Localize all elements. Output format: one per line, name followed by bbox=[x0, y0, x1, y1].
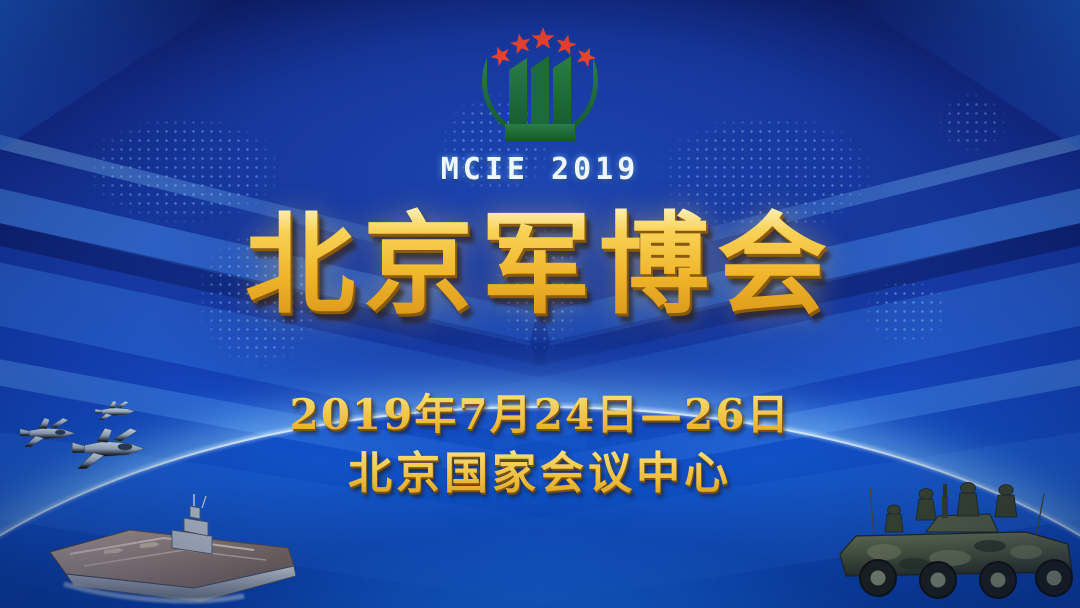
page-title: 北京军博会 bbox=[0, 205, 1080, 325]
mcie-emblem-icon bbox=[471, 52, 609, 164]
aircraft-carrier-image bbox=[44, 492, 312, 608]
fighter-jets-image bbox=[8, 396, 198, 486]
logo-acronym-year: MCIE 2019 bbox=[0, 152, 1080, 187]
armored-personnel-carrier-icon bbox=[830, 480, 1080, 608]
fighter-jet-formation-icon bbox=[8, 396, 198, 486]
armored-vehicle-image bbox=[830, 480, 1080, 608]
event-poster: MCIE 2019 北京军博会 2019年7月24日—26日 北京国家会议中心 bbox=[0, 0, 1080, 608]
event-emblem bbox=[471, 52, 609, 164]
aircraft-carrier-icon bbox=[44, 492, 312, 608]
